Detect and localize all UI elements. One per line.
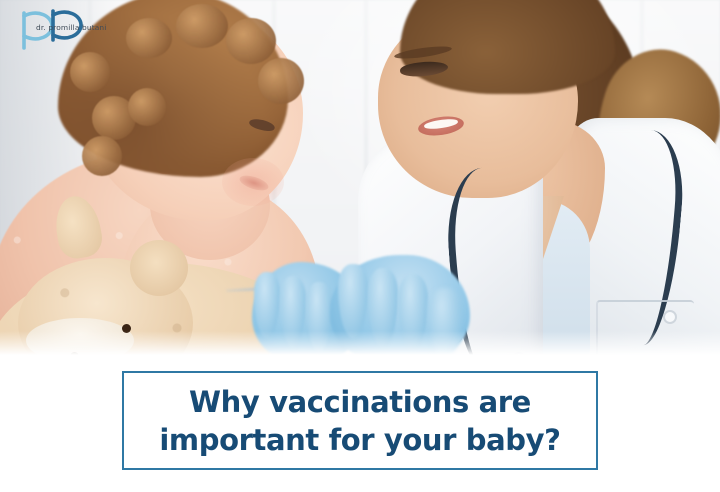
logo-wordmark: dr. promilla butani — [36, 23, 106, 32]
hair-curl — [176, 4, 228, 48]
hair-curl — [258, 58, 304, 104]
hair-curl — [226, 18, 276, 64]
vaccination-article-banner: dr. promilla butani Why vaccinations are… — [0, 0, 720, 492]
hair-curl — [128, 88, 166, 126]
photo-bottom-fade — [0, 331, 720, 357]
hair-curl — [70, 52, 110, 92]
hair-curl — [82, 136, 122, 176]
hair-curl — [126, 18, 172, 58]
teddy-ear — [130, 240, 188, 296]
page-title-line-1: Why vaccinations are — [189, 383, 531, 421]
site-logo[interactable]: dr. promilla butani — [8, 6, 112, 50]
page-title-line-2: important for your baby? — [159, 421, 560, 459]
hero-photo — [0, 0, 720, 357]
article-title-card: Why vaccinations are important for your … — [122, 371, 598, 470]
